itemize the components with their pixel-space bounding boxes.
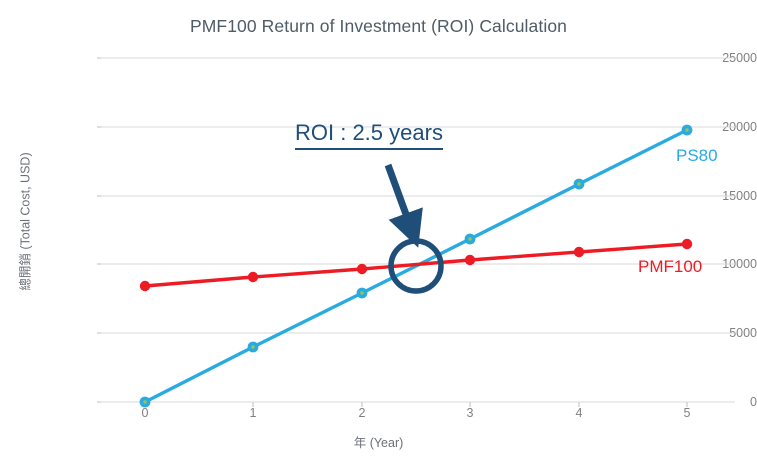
axis-ticks — [97, 58, 687, 407]
roi-annotation-label: ROI : 2.5 years — [295, 120, 443, 150]
series-line-pmf100 — [140, 239, 692, 291]
roi-chart: PMF100 Return of Investment (ROI) Calcul… — [0, 0, 757, 470]
gridlines — [101, 58, 735, 402]
plot-area — [0, 0, 757, 470]
series-label-ps80: PS80 — [676, 146, 718, 166]
series-label-pmf100: PMF100 — [638, 257, 702, 277]
